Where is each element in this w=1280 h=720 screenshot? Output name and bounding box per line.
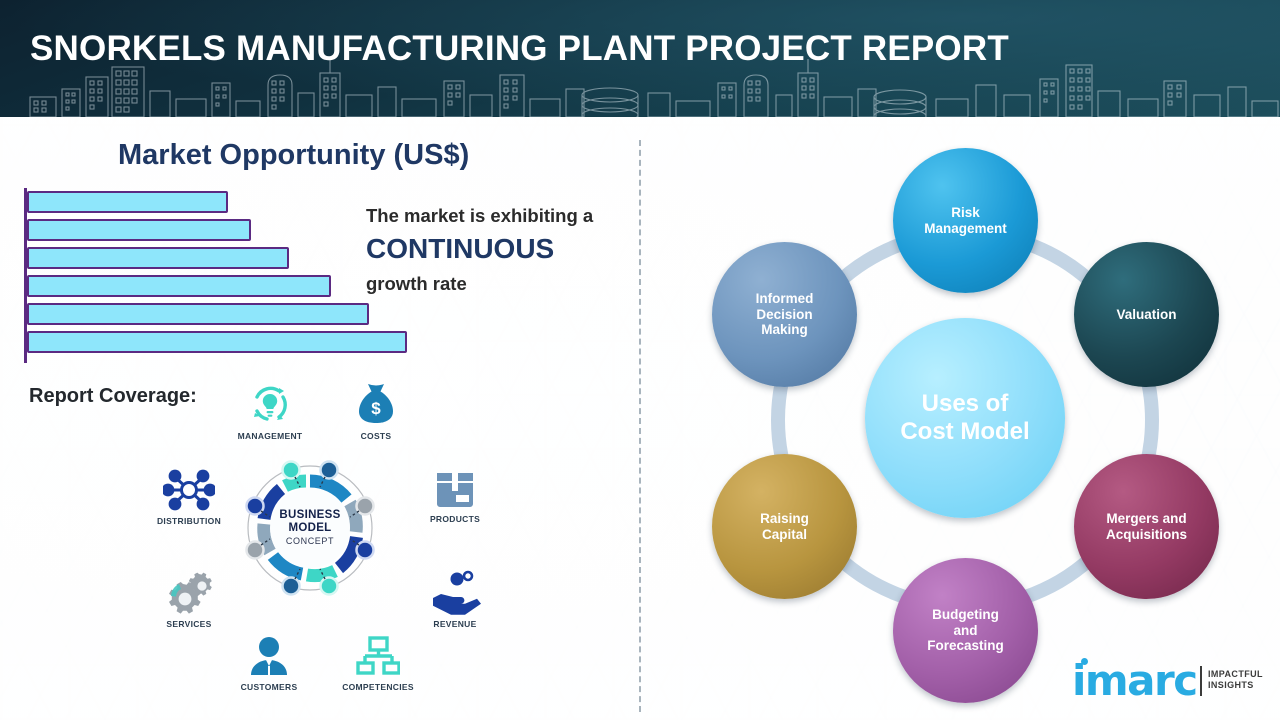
imarc-logo-dot bbox=[1081, 658, 1088, 665]
coverage-item-distribution: DISTRIBUTION bbox=[144, 467, 234, 526]
node-informed-line1: Informed bbox=[750, 291, 820, 307]
coverage-item-products: PRODUCTS bbox=[412, 467, 498, 524]
growth-note-highlight: CONTINUOUS bbox=[366, 231, 641, 266]
page-title: Snorkels Manufacturing Plant Project Rep… bbox=[30, 29, 1009, 69]
node-budgeting-and-forecasting[interactable]: Budgeting and Forecasting bbox=[893, 558, 1038, 703]
slide-canvas: Snorkels Manufacturing Plant Project Rep… bbox=[0, 0, 1280, 720]
report-coverage-graphic: MANAGEMENT $ COSTS bbox=[140, 370, 500, 710]
node-risk-management-line2: Management bbox=[918, 221, 1013, 237]
chart-bar bbox=[27, 303, 369, 325]
hand-coins-icon bbox=[429, 570, 481, 616]
center-line2: Cost Model bbox=[894, 418, 1035, 446]
svg-text:$: $ bbox=[371, 399, 381, 418]
coverage-label-revenue: REVENUE bbox=[410, 619, 500, 629]
chart-bar bbox=[27, 247, 289, 269]
node-risk-management-line1: Risk bbox=[918, 205, 1013, 221]
business-model-ring: BUSINESS MODEL CONCEPT bbox=[235, 453, 385, 603]
imarc-logo[interactable]: imarc IMPACTFUL INSIGHTS bbox=[1072, 658, 1272, 708]
growth-note-line1: The market is exhibiting a bbox=[366, 204, 641, 227]
header-banner: Snorkels Manufacturing Plant Project Rep… bbox=[0, 0, 1280, 117]
imarc-tagline: IMPACTFUL INSIGHTS bbox=[1208, 669, 1263, 692]
growth-note: The market is exhibiting a CONTINUOUS gr… bbox=[366, 204, 641, 295]
gears-icon bbox=[163, 570, 215, 616]
coverage-label-management: MANAGEMENT bbox=[230, 431, 310, 441]
lightbulb-refresh-icon bbox=[246, 380, 294, 428]
coverage-item-customers: CUSTOMERS bbox=[225, 635, 313, 692]
node-informed-line2: Decision bbox=[750, 307, 820, 323]
node-risk-management[interactable]: Risk Management bbox=[893, 148, 1038, 293]
person-icon bbox=[247, 635, 291, 679]
chart-bar bbox=[27, 275, 331, 297]
imarc-wordmark: imarc bbox=[1072, 660, 1197, 702]
money-bag-icon: $ bbox=[353, 380, 399, 428]
coverage-label-costs: COSTS bbox=[336, 431, 416, 441]
node-budgeting-line1: Budgeting bbox=[921, 607, 1010, 623]
coverage-label-competencies: COMPETENCIES bbox=[330, 682, 426, 692]
coverage-label-products: PRODUCTS bbox=[412, 514, 498, 524]
chart-bar bbox=[27, 331, 407, 353]
node-budgeting-line2: and bbox=[921, 623, 1010, 639]
market-opportunity-bar-chart bbox=[24, 188, 404, 363]
coverage-label-services: SERVICES bbox=[144, 619, 234, 629]
coverage-item-management: MANAGEMENT bbox=[230, 380, 310, 441]
business-model-line2: MODEL bbox=[288, 522, 331, 535]
coverage-item-services: SERVICES bbox=[144, 570, 234, 629]
chart-bar bbox=[27, 219, 251, 241]
business-model-line3: CONCEPT bbox=[286, 537, 334, 547]
business-model-ring-text: BUSINESS MODEL CONCEPT bbox=[235, 453, 385, 603]
node-mergers-line2: Acquisitions bbox=[1100, 527, 1193, 543]
growth-note-line3: growth rate bbox=[366, 272, 641, 295]
coverage-label-customers: CUSTOMERS bbox=[225, 682, 313, 692]
coverage-label-distribution: DISTRIBUTION bbox=[144, 516, 234, 526]
product-box-icon bbox=[432, 467, 478, 511]
node-raising-capital[interactable]: Raising Capital bbox=[712, 454, 857, 599]
node-valuation[interactable]: Valuation bbox=[1074, 242, 1219, 387]
node-mergers-and-acquisitions[interactable]: Mergers and Acquisitions bbox=[1074, 454, 1219, 599]
node-valuation-line1: Valuation bbox=[1110, 307, 1182, 323]
uses-of-cost-model-diagram: Uses of Cost Model Risk Management Valua… bbox=[660, 120, 1280, 720]
market-opportunity-title: Market Opportunity (US$) bbox=[118, 139, 469, 172]
coverage-item-costs: $ COSTS bbox=[336, 380, 416, 441]
node-mergers-line1: Mergers and bbox=[1100, 511, 1193, 527]
node-center-uses-of-cost-model[interactable]: Uses of Cost Model bbox=[865, 318, 1065, 518]
coverage-item-revenue: REVENUE bbox=[410, 570, 500, 629]
node-informed-line3: Making bbox=[750, 322, 820, 338]
network-nodes-icon bbox=[163, 467, 215, 513]
node-raising-capital-line2: Capital bbox=[754, 527, 815, 543]
node-informed-decision-making[interactable]: Informed Decision Making bbox=[712, 242, 857, 387]
node-budgeting-line3: Forecasting bbox=[921, 638, 1010, 654]
coverage-item-competencies: COMPETENCIES bbox=[330, 635, 426, 692]
node-raising-capital-line1: Raising bbox=[754, 511, 815, 527]
chart-bar bbox=[27, 191, 228, 213]
org-chart-icon bbox=[356, 635, 400, 679]
imarc-tagline-line1: IMPACTFUL bbox=[1208, 669, 1263, 680]
imarc-tagline-line2: INSIGHTS bbox=[1208, 680, 1263, 691]
center-line1: Uses of bbox=[894, 390, 1035, 418]
imarc-logo-divider bbox=[1200, 666, 1202, 696]
business-model-line1: BUSINESS bbox=[279, 509, 340, 522]
